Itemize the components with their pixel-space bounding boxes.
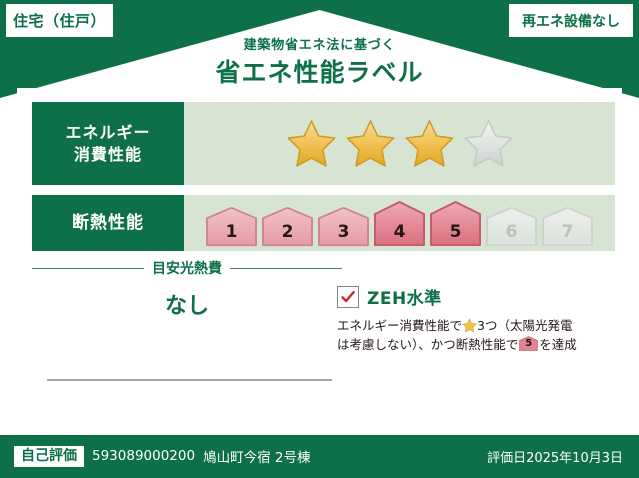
insulation-grade-number: 6 xyxy=(485,222,538,242)
zeh-desc-part3: を達成 xyxy=(539,337,577,352)
insulation-grade-5: 5 xyxy=(429,200,482,247)
insulation-grade-4: 4 xyxy=(373,200,426,247)
insulation-grade-number: 4 xyxy=(373,222,426,242)
insulation-scale: 1234567 xyxy=(205,200,594,247)
insulation-grade-number: 7 xyxy=(541,222,594,242)
label-footer: 自己評価 593089000200 鳩山町今宿 2号棟 評価日2025年10月3… xyxy=(0,435,639,478)
zeh-checkbox[interactable] xyxy=(337,286,359,308)
renewable-equipment-chip: 再エネ設備なし xyxy=(509,4,633,37)
cost-section-divider xyxy=(47,379,332,381)
zeh-title: ZEH水準 xyxy=(367,284,442,309)
insulation-performance-row: 断熱性能 1234567 xyxy=(32,195,615,251)
title-block: 建築物省エネ法に基づく 省エネ性能ラベル xyxy=(0,38,639,88)
evaluation-date: 評価日2025年10月3日 xyxy=(487,447,623,466)
zeh-desc-part2: は考慮しない）、かつ断熱性能で xyxy=(337,337,518,352)
energy-performance-value xyxy=(184,102,615,185)
dwelling-category-label: 住宅（住戸） xyxy=(13,10,106,31)
insulation-performance-value: 1234567 xyxy=(184,195,615,251)
zeh-desc-part1: エネルギー消費性能で xyxy=(337,318,462,333)
insulation-grade-number: 1 xyxy=(205,222,258,242)
insulation-grade-number: 5 xyxy=(429,222,482,242)
utility-cost-value: なし xyxy=(32,288,342,320)
energy-label-line1: エネルギー xyxy=(65,122,150,144)
footer-left-group: 自己評価 593089000200 鳩山町今宿 2号棟 xyxy=(14,446,310,467)
star-empty-icon xyxy=(462,118,515,169)
insulation-grade-number: 3 xyxy=(317,222,370,242)
insulation-grade-7: 7 xyxy=(541,206,594,247)
label-id: 593089000200 xyxy=(92,448,195,464)
inline-insulation-badge: 5 xyxy=(519,336,538,351)
insulation-grade-6: 6 xyxy=(485,206,538,247)
utility-cost-title: 目安光熱費 xyxy=(152,258,222,278)
zeh-desc-stars: 3つ（太陽光発電 xyxy=(477,318,572,333)
assessment-type-badge: 自己評価 xyxy=(14,446,84,467)
renewable-equipment-label: 再エネ設備なし xyxy=(522,11,620,31)
property-address: 鳩山町今宿 2号棟 xyxy=(203,446,310,466)
insulation-grade-2: 2 xyxy=(261,206,314,247)
cost-rule-right xyxy=(230,268,342,269)
inline-star-icon xyxy=(462,318,477,333)
star-filled-icon xyxy=(344,118,397,169)
inline-badge-number: 5 xyxy=(519,336,538,352)
insulation-grade-number: 2 xyxy=(261,222,314,242)
title-main: 省エネ性能ラベル xyxy=(0,57,639,88)
title-subtitle: 建築物省エネ法に基づく xyxy=(0,38,639,54)
insulation-label: 断熱性能 xyxy=(72,212,144,235)
star-filled-icon xyxy=(285,118,338,169)
check-icon xyxy=(340,289,356,305)
energy-label-line2: 消費性能 xyxy=(74,144,142,166)
zeh-description: エネルギー消費性能で3つ（太陽光発電 は考慮しない）、かつ断熱性能で5を達成 xyxy=(337,316,612,355)
utility-cost-header: 目安光熱費 xyxy=(32,260,342,276)
energy-performance-key: エネルギー 消費性能 xyxy=(32,102,184,185)
insulation-grade-1: 1 xyxy=(205,206,258,247)
zeh-block: ZEH水準 エネルギー消費性能で3つ（太陽光発電 は考慮しない）、かつ断熱性能で… xyxy=(337,284,612,355)
star-rating xyxy=(285,118,515,169)
energy-performance-label: 住宅（住戸） 再エネ設備なし 建築物省エネ法に基づく 省エネ性能ラベル エネルギ… xyxy=(0,0,639,478)
energy-performance-row: エネルギー 消費性能 xyxy=(32,102,615,185)
cost-rule-left xyxy=(32,268,144,269)
zeh-header: ZEH水準 xyxy=(337,284,612,309)
insulation-grade-3: 3 xyxy=(317,206,370,247)
star-filled-icon xyxy=(403,118,456,169)
dwelling-category-chip: 住宅（住戸） xyxy=(6,4,113,37)
label-card: エネルギー 消費性能 断熱性能 1234567 目安光熱費 なし xyxy=(17,88,622,426)
insulation-performance-key: 断熱性能 xyxy=(32,195,184,251)
